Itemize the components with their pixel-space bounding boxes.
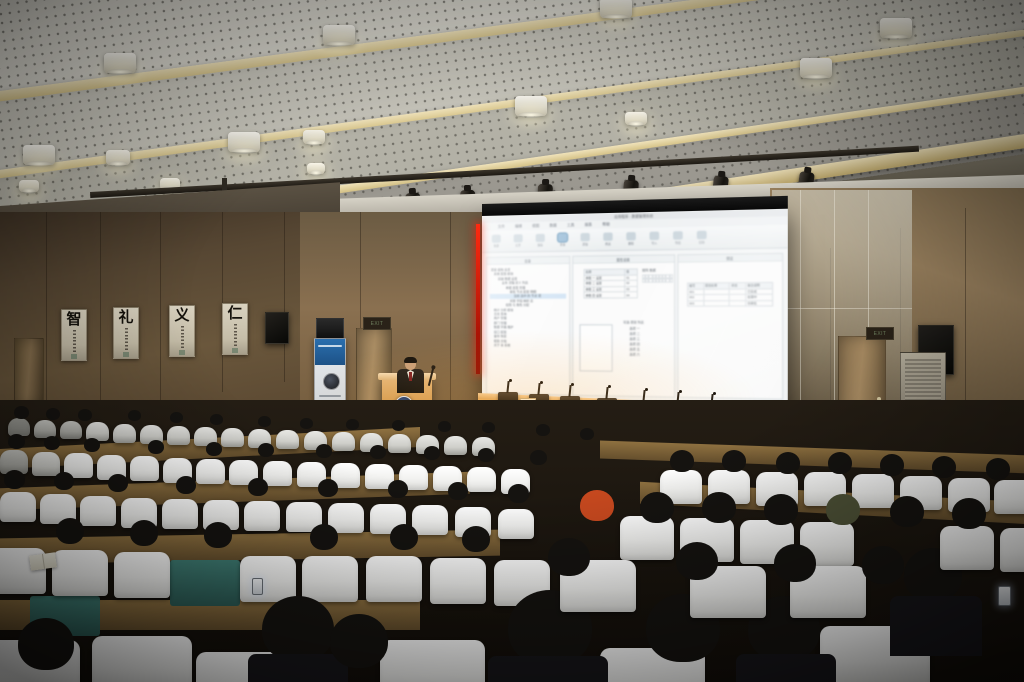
auditorium-seat[interactable]	[332, 432, 355, 451]
downlight-6	[228, 132, 260, 152]
matrix-grid[interactable]	[642, 274, 673, 283]
property-table[interactable]: 名称 值 参数 一 设置 01 参数 二 设置 02	[584, 268, 638, 298]
auditorium-seat-foreground[interactable]	[92, 636, 192, 682]
auditorium-seat[interactable]	[412, 505, 448, 535]
downlight-13	[307, 163, 325, 174]
auditorium-seat[interactable]	[388, 434, 411, 453]
calligraphy-scroll-ren: 仁	[222, 303, 248, 355]
option-item[interactable]: 选项 四	[629, 342, 639, 346]
downlight-9	[106, 150, 130, 165]
auditorium-seat[interactable]	[994, 480, 1024, 514]
ribbon-button-export[interactable]: 导出	[671, 230, 685, 247]
table-cell: 04	[625, 292, 638, 298]
ribbon-button-edit[interactable]: 修改	[601, 231, 615, 248]
auditorium-seat[interactable]	[8, 418, 30, 436]
preview-table[interactable]: 编号 项目名称 状态 备注说明 001 已完成	[687, 282, 773, 307]
auditorium-seat[interactable]	[302, 556, 358, 602]
ribbon-label: 添加	[582, 242, 587, 246]
ribbon-button-delete[interactable]: 删除	[624, 230, 638, 247]
downlight-1	[104, 53, 136, 73]
preview-pane-title: 预览	[726, 255, 733, 260]
auditorium-seat[interactable]	[52, 550, 108, 596]
banner-top-box	[316, 318, 344, 340]
auditorium-seat[interactable]	[940, 526, 994, 570]
auditorium-seat[interactable]	[60, 421, 82, 439]
ribbon-button-import[interactable]: 导入	[647, 230, 661, 247]
ribbon-label: 导出	[675, 241, 681, 245]
auditorium-seat[interactable]	[263, 461, 292, 486]
list-box[interactable]	[579, 324, 612, 372]
menu-item-data[interactable]: 数据	[549, 223, 556, 228]
auditorium-seat[interactable]	[620, 516, 674, 560]
downlight-5	[23, 145, 55, 165]
auditorium-seat[interactable]	[114, 552, 170, 598]
auditorium-seat[interactable]	[244, 501, 280, 531]
seat-base-teal	[170, 560, 240, 606]
auditorium-seat[interactable]	[80, 496, 116, 526]
option-item[interactable]: 选项 五	[629, 347, 639, 351]
tree-pane[interactable]: 目录 项目 结构 总览 系统 配置 模块 基础 数据 设置 业务 流程 定义 列…	[486, 256, 570, 396]
auditorium-seat[interactable]	[196, 459, 225, 484]
auditorium-seat[interactable]	[167, 426, 190, 445]
downlight-14	[625, 112, 647, 125]
calligraphy-character: 智	[66, 312, 81, 327]
auditorium-seat[interactable]	[430, 558, 486, 604]
tree-node[interactable]: 关于 本 系统	[490, 343, 566, 348]
app-body: 目录 项目 结构 总览 系统 配置 模块 基础 数据 设置 业务 流程 定义 列…	[482, 248, 788, 404]
table-cell: 003	[688, 301, 704, 307]
downlight-7	[515, 96, 547, 116]
properties-pane-title: 属性设置	[616, 257, 629, 262]
ribbon-button-open[interactable]: 打开	[512, 233, 525, 249]
smartphone-secondary[interactable]	[252, 578, 263, 595]
exit-sign-left: EXIT	[363, 317, 391, 330]
option-item[interactable]: 选项 六	[629, 352, 639, 356]
auditorium-seat[interactable]	[1000, 528, 1024, 572]
table-cell	[703, 301, 729, 307]
tree-list[interactable]: 项目 结构 总览 系统 配置 模块 基础 数据 设置 业务 流程 定义 列表 单…	[487, 265, 569, 395]
option-item[interactable]: 选项 一	[629, 326, 639, 330]
door-far-left[interactable]	[14, 338, 44, 406]
ribbon-button-new[interactable]: 新建	[490, 233, 503, 249]
ribbon-button-query[interactable]: 查询	[556, 232, 569, 249]
tree-pane-title: 目录	[524, 258, 530, 263]
auditorium-seat-foreground[interactable]	[380, 640, 485, 682]
calligraphy-character: 义	[174, 308, 189, 323]
menu-item-file[interactable]: 文件	[498, 224, 505, 229]
table-cell: 参数 四 设置	[584, 292, 625, 298]
downlight-8	[800, 58, 832, 78]
table-row[interactable]: 参数 四 设置 04	[584, 292, 637, 298]
ribbon-button-add[interactable]: 添加	[578, 231, 591, 248]
option-group-label: 可选 项目 列表	[623, 320, 644, 324]
auditorium-seat[interactable]	[0, 492, 36, 522]
downlight-2	[323, 25, 355, 45]
auditorium-seat[interactable]	[240, 556, 296, 602]
auditorium-seat[interactable]	[113, 424, 136, 443]
presenter	[396, 358, 424, 392]
menu-item-tools[interactable]: 工具	[567, 222, 574, 227]
menu-item-view[interactable]: 视图	[532, 223, 539, 228]
banner-logo-icon	[323, 373, 340, 390]
ribbon-button-save[interactable]: 保存	[534, 232, 547, 248]
ribbon-label: 打开	[516, 243, 521, 247]
ribbon-label: 保存	[538, 243, 543, 247]
menu-item-report[interactable]: 报表	[585, 222, 592, 227]
calligraphy-scroll-yi: 义	[169, 305, 195, 357]
exit-sign-right: EXIT	[866, 327, 894, 340]
auditorium-seat[interactable]	[366, 556, 422, 602]
auditorium-seat[interactable]	[162, 499, 198, 529]
ribbon-label: 新建	[494, 244, 499, 248]
auditorium-seat[interactable]	[444, 436, 467, 455]
menu-item-help[interactable]: 帮助	[602, 222, 609, 227]
exit-sign-text: EXIT	[874, 331, 887, 337]
calligraphy-character: 礼	[118, 310, 133, 325]
auditorium-seat[interactable]	[498, 509, 534, 539]
auditorium-seat[interactable]	[130, 456, 159, 481]
table-cell: 待审核	[746, 300, 773, 306]
red-indicator-light	[476, 224, 480, 374]
auditorium-seat[interactable]	[276, 430, 299, 449]
option-item[interactable]: 选项 二	[629, 332, 639, 336]
ribbon-label: 修改	[605, 242, 610, 246]
projection-screen: 应用程序 - 数据管理系统 文件 编辑 视图 数据 工具 报表 帮助 新建 打开…	[482, 209, 788, 420]
downlight-10	[303, 130, 325, 144]
matrix-label: 矩阵 数据	[642, 268, 656, 272]
auditorium-photograph: 智 礼 义 仁 EXIT EXIT 应用程序 - 数据管理系统	[0, 0, 1024, 682]
table-cell	[730, 300, 746, 306]
properties-pane[interactable]: 属性设置 名称 值 参数 一 设置 01 参数 二 设置	[572, 254, 675, 397]
ribbon-button-print[interactable]: 打印	[695, 229, 709, 246]
downlight-11	[19, 180, 39, 192]
ribbon-label: 打印	[699, 240, 705, 244]
table-row[interactable]: 003 待审核	[688, 300, 773, 306]
auditorium-seat[interactable]	[221, 428, 244, 447]
ribbon-label: 导入	[652, 241, 658, 245]
calligraphy-scroll-zhi: 智	[61, 309, 87, 361]
downlight-3	[600, 0, 632, 18]
preview-pane[interactable]: 预览 编号 项目名称 状态 备注说明 001	[677, 253, 783, 400]
wall-speaker-left	[265, 312, 289, 344]
calligraphy-scroll-li: 礼	[113, 307, 139, 359]
menu-item-edit[interactable]: 编辑	[515, 224, 522, 229]
app-window-title: 应用程序 - 数据管理系统	[614, 213, 653, 219]
ribbon-label: 查询	[560, 243, 565, 247]
calligraphy-character: 仁	[227, 306, 242, 321]
projected-application-ui: 应用程序 - 数据管理系统 文件 编辑 视图 数据 工具 报表 帮助 新建 打开…	[482, 209, 788, 420]
screen-surface: 应用程序 - 数据管理系统 文件 编辑 视图 数据 工具 报表 帮助 新建 打开…	[482, 209, 788, 420]
downlight-4	[880, 18, 912, 38]
smartphone[interactable]	[998, 586, 1011, 606]
exit-sign-text: EXIT	[371, 321, 384, 327]
ribbon-label: 删除	[628, 241, 633, 245]
option-item[interactable]: 选项 三	[629, 337, 639, 341]
auditorium-seat[interactable]	[32, 452, 60, 476]
auditorium-seat[interactable]	[467, 467, 496, 492]
